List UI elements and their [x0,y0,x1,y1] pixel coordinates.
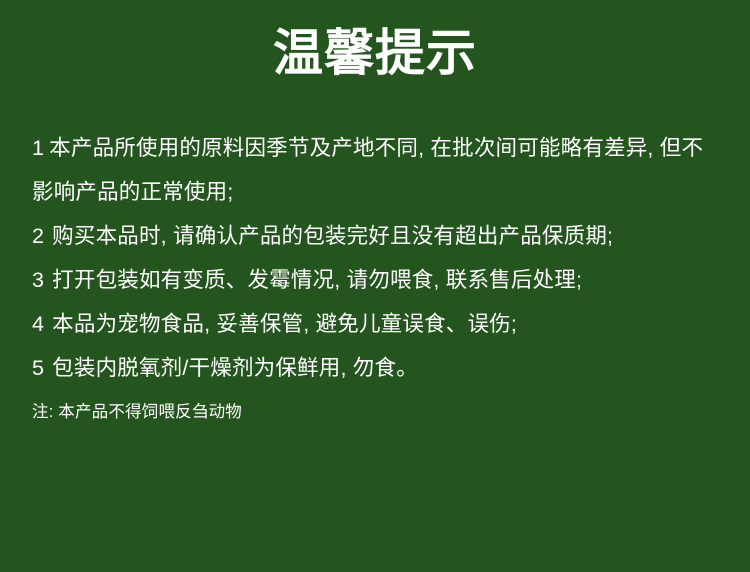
list-item: 2购买本品时, 请确认产品的包装完好且没有超出产品保质期; [32,214,722,258]
notice-number: 1 [32,136,44,160]
list-item: 1本产品所使用的原料因季节及产地不同, 在批次间可能略有差异, 但不影响产品的正… [32,126,722,214]
list-item: 3打开包装如有变质、发霉情况, 请勿喂食, 联系售后处理; [32,258,722,302]
notice-number: 2 [32,224,44,248]
notice-list: 1本产品所使用的原料因季节及产地不同, 在批次间可能略有差异, 但不影响产品的正… [32,126,722,390]
notice-number: 3 [32,268,44,292]
notice-text: 本产品所使用的原料因季节及产地不同, 在批次间可能略有差异, 但不影响产品的正常… [32,136,703,204]
list-item: 5包装内脱氧剂/干燥剂为保鲜用, 勿食。 [32,346,722,390]
list-item: 4本品为宠物食品, 妥善保管, 避免儿童误食、误伤; [32,302,722,346]
notice-text: 本品为宠物食品, 妥善保管, 避免儿童误食、误伤; [52,312,517,336]
page-title: 温馨提示 [0,22,750,84]
warm-tips-panel: 温馨提示 1本产品所使用的原料因季节及产地不同, 在批次间可能略有差异, 但不影… [0,0,750,572]
notice-text: 包装内脱氧剂/干燥剂为保鲜用, 勿食。 [52,356,418,380]
notice-text: 打开包装如有变质、发霉情况, 请勿喂食, 联系售后处理; [52,268,582,292]
notice-number: 5 [32,356,44,380]
notice-number: 4 [32,312,44,336]
footnote: 注: 本产品不得饲喂反刍动物 [32,398,242,426]
notice-text: 购买本品时, 请确认产品的包装完好且没有超出产品保质期; [52,224,613,248]
